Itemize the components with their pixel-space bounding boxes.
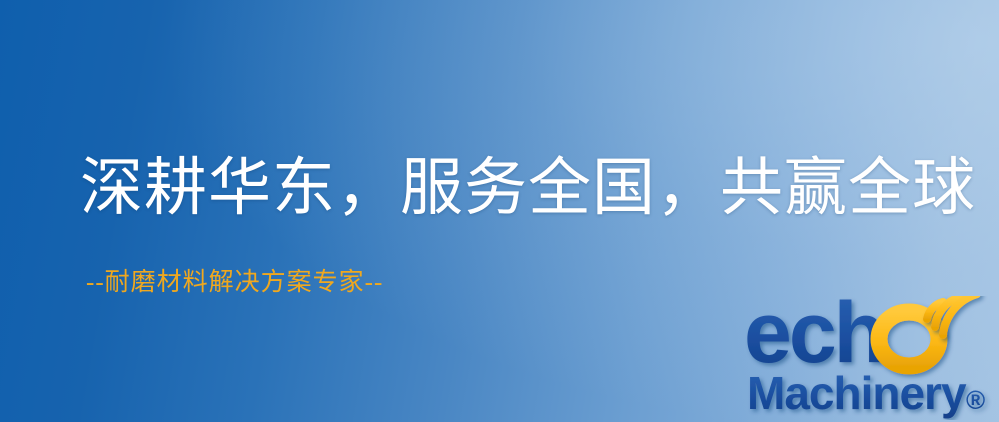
echo-machinery-logo[interactable]: ech Machinery ® — [744, 296, 996, 420]
hero-banner: 深耕华东，服务全国，共赢全球 --耐磨材料解决方案专家-- — [0, 0, 999, 422]
logo-signal-arcs-icon — [927, 296, 977, 335]
registered-trademark-mark: ® — [966, 385, 985, 415]
svg-text:Machinery: Machinery — [747, 367, 967, 419]
logo-tagline-machinery: Machinery ® — [747, 367, 985, 419]
banner-subtitle: --耐磨材料解决方案专家-- — [86, 268, 383, 298]
banner-headline: 深耕华东，服务全国，共赢全球 — [80, 152, 976, 224]
